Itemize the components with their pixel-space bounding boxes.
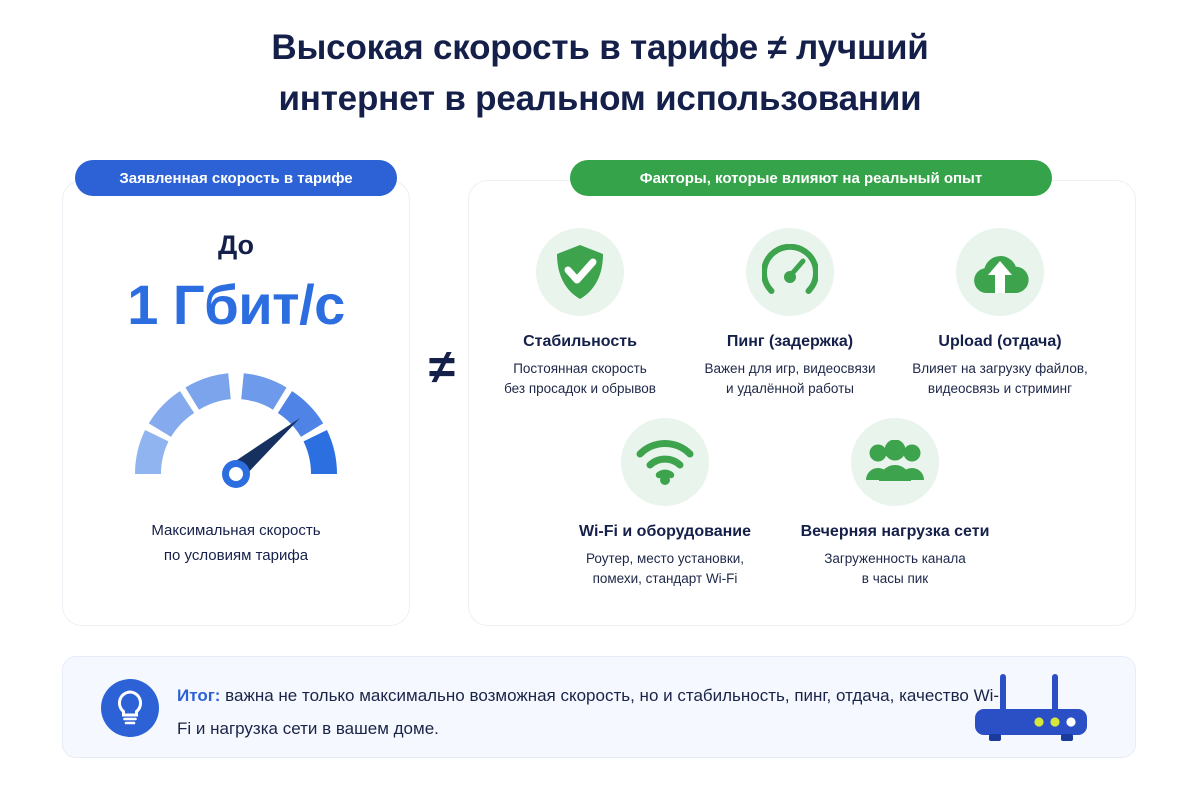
summary-bar: Итог: важна не только максимально возмож… — [62, 656, 1136, 758]
factor-item-upload: Upload (отдача) Влияет на загрузку файло… — [895, 228, 1105, 399]
factor-title: Upload (отдача) — [895, 332, 1105, 352]
factor-description: Загруженность канала в часы пик — [790, 549, 1000, 589]
factor-title: Вечерняя нагрузка сети — [790, 522, 1000, 542]
router-icon — [967, 671, 1099, 747]
wifi-icon — [621, 418, 709, 506]
factors-header-label: Факторы, которые влияют на реальный опыт — [640, 170, 982, 187]
factor-item-wifi: Wi-Fi и оборудование Роутер, место устан… — [560, 418, 770, 589]
page-title-line-2: интернет в реальном использовании — [0, 73, 1200, 124]
summary-text: Итог: важна не только максимально возмож… — [177, 679, 1007, 745]
speed-gauge-svg — [116, 352, 356, 502]
speedometer-icon — [746, 228, 834, 316]
factor-description: Постоянная скорость без просадок и обрыв… — [475, 359, 685, 399]
declared-speed-header-pill: Заявленная скорость в тарифе — [75, 160, 397, 196]
people-group-icon — [851, 418, 939, 506]
gauge-caption: Максимальная скорость по условиям тарифа — [62, 518, 410, 568]
factor-item-network-load: Вечерняя нагрузка сети Загруженность кан… — [790, 418, 1000, 589]
factor-title: Wi-Fi и оборудование — [560, 522, 770, 542]
summary-lead: Итог: — [177, 686, 220, 705]
factor-item-ping: Пинг (задержка) Важен для игр, видеосвяз… — [685, 228, 895, 399]
speed-prefix: До — [62, 230, 410, 261]
factor-description: Влияет на загрузку файлов, видеосвязь и … — [895, 359, 1105, 399]
not-equal-symbol: ≠ — [414, 340, 470, 395]
factor-title: Пинг (задержка) — [685, 332, 895, 352]
declared-speed-header-label: Заявленная скорость в тарифе — [119, 170, 352, 187]
gauge-caption-line-2: по условиям тарифа — [62, 543, 410, 568]
factor-description: Роутер, место установки, помехи, стандар… — [560, 549, 770, 589]
factor-description: Важен для игр, видеосвязи и удалённой ра… — [685, 359, 895, 399]
lightbulb-icon — [101, 679, 159, 737]
page-title-line-1: Высокая скорость в тарифе ≠ лучший — [0, 22, 1200, 73]
factors-header-pill: Факторы, которые влияют на реальный опыт — [570, 160, 1052, 196]
speed-value: 1 Гбит/с — [62, 272, 410, 337]
speed-gauge — [116, 352, 356, 502]
page-title: Высокая скорость в тарифе ≠ лучший интер… — [0, 22, 1200, 124]
gauge-caption-line-1: Максимальная скорость — [62, 518, 410, 543]
factor-title: Стабильность — [475, 332, 685, 352]
cloud-upload-icon — [956, 228, 1044, 316]
shield-check-icon — [536, 228, 624, 316]
factor-item-stability: Стабильность Постоянная скорость без про… — [475, 228, 685, 399]
summary-line-1: важна не только максимально возможная ск… — [220, 686, 831, 705]
